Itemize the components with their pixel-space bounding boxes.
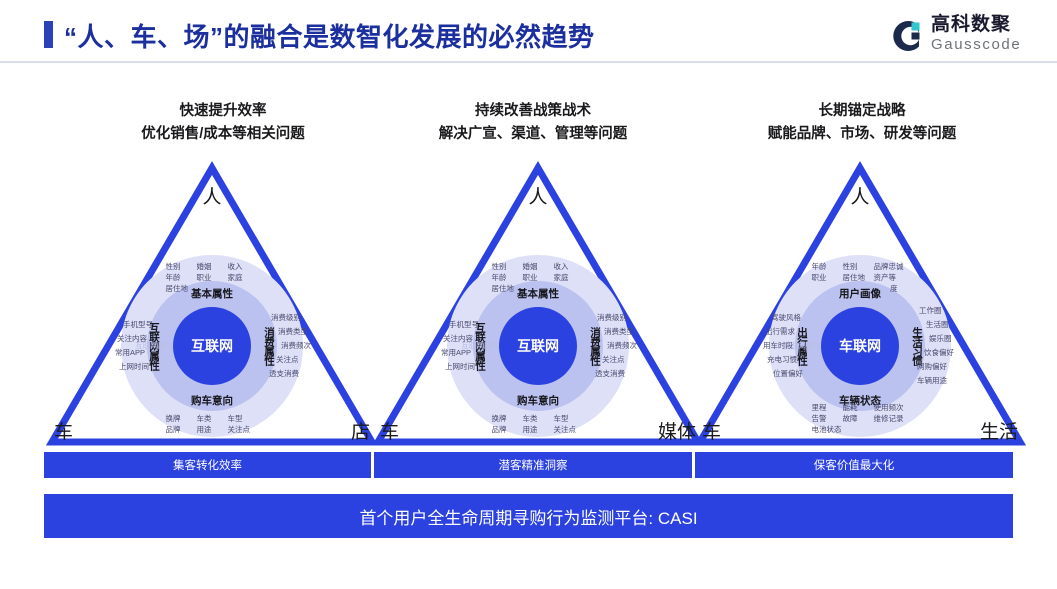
column-heading-2: 长期锚定战略 赋能品牌、市场、研发等问题 [697,100,1027,146]
column-heading-0: 快速提升效率 优化销售/成本等相关问题 [58,100,388,146]
stage-bar-1[interactable]: 潜客精准洞察 [374,452,692,478]
concentric-rings-1: 互联网 基本属性 购车意向 互联网属性 消费属性 互联网属性 性别婚姻收入 年龄… [447,255,629,437]
spoke-group-top-0: 性别婚姻收入 年龄职业家庭 居住地 [166,261,259,294]
header-divider [0,61,1057,63]
column-heading-0-line1: 快速提升效率 [58,100,388,123]
platform-footer-bar[interactable]: 首个用户全生命周期寻购行为监测平台: CASI [44,494,1013,538]
column-heading-2-line2: 赋能品牌、市场、研发等问题 [697,123,1027,146]
triangle-vertex-right-1: 媒体 [658,417,696,444]
triangle-vertex-right-0: 店 [351,417,370,444]
spoke-group-bottom-0: 换牌车类车型 品牌用途关注点 [166,413,259,435]
triangle-panel-0: 人 车 店 互联网 基本属性 购车意向 互联网属性 消费属性 互联网属性 性别婚… [44,160,380,450]
triangle-vertex-left-1: 车 [380,417,399,444]
brand-name-en: Gausscode [931,36,1021,54]
title-accent-bar [44,21,53,48]
triangle-panel-2: 人 车 生活 车联网 用户画像 车辆状态 出行属性 生活习惯 互联网属性 年龄性… [692,160,1028,450]
concentric-rings-2: 车联网 用户画像 车辆状态 出行属性 生活习惯 互联网属性 年龄性别品牌忠诚 职… [769,255,951,437]
ring-core-label-2: 车联网 [839,336,881,356]
spoke-group-bottom-1: 换牌车类车型 品牌用途关注点 [492,413,585,435]
triangle-vertex-right-2: 生活 [980,417,1018,444]
column-heading-1: 持续改善战策战术 解决广宣、渠道、管理等问题 [368,100,698,146]
concentric-rings-0: 互联网 基本属性 购车意向 互联网属性 消费属性 互联网属性 性别婚姻收入 年龄… [121,255,303,437]
brand-logo: 高科数聚 Gausscode [889,14,1039,58]
page-header: “人、车、场”的融合是数智化发展的必然趋势 高科数聚 Gausscode [0,0,1057,62]
gausscode-c-logo-icon [889,18,925,54]
column-heading-1-line2: 解决广宣、渠道、管理等问题 [368,123,698,146]
ring-core-1: 互联网 [499,307,577,385]
spoke-group-top-2: 年龄性别品牌忠诚 职业居住地资产等 度 [812,261,909,294]
spoke-group-right-1: 消费级别 消费类型 消费频次 关注点 透支消费 [595,311,661,381]
page-title: “人、车、场”的融合是数智化发展的必然趋势 [64,17,595,54]
stage-bar-2[interactable]: 保客价值最大化 [695,452,1013,478]
spoke-group-bottom-2: 里程能耗使用频次 告警故障维修记录 电池状态 [812,402,909,435]
triangle-vertex-left-2: 车 [702,417,721,444]
spoke-group-right-2: 工作圈 生活圈 娱乐圈 饮食偏好 网购偏好 车辆用途 [917,304,983,388]
column-heading-2-line1: 长期锚定战略 [697,100,1027,123]
triangle-vertex-top-1: 人 [528,182,547,209]
triangle-vertex-top-0: 人 [202,182,221,209]
ring-band-bottom-1: 购车意向 [517,393,559,408]
spoke-group-left-2: 驾驶风格 出行需求 用车时段 充电习惯 位置偏好 [737,311,803,381]
spoke-group-left-1: 手机型号 关注内容 常用APP 上网时间 [415,318,481,374]
ring-band-bottom-0: 购车意向 [191,393,233,408]
spoke-group-left-0: 手机型号 关注内容 常用APP 上网时间 [89,318,155,374]
triangle-vertex-top-2: 人 [850,182,869,209]
triangle-panel-1: 人 车 媒体 互联网 基本属性 购车意向 互联网属性 消费属性 互联网属性 性别… [370,160,706,450]
ring-core-label-0: 互联网 [191,336,233,356]
spoke-group-top-1: 性别婚姻收入 年龄职业家庭 居住地 [492,261,585,294]
spoke-group-right-0: 消费级别 消费类型 消费频次 关注点 透支消费 [269,311,335,381]
column-heading-0-line2: 优化销售/成本等相关问题 [58,123,388,146]
brand-logo-text: 高科数聚 Gausscode [931,14,1021,54]
ring-core-0: 互联网 [173,307,251,385]
ring-core-label-1: 互联网 [517,336,559,356]
column-heading-1-line1: 持续改善战策战术 [368,100,698,123]
triangle-vertex-left-0: 车 [54,417,73,444]
stage-bar-0[interactable]: 集客转化效率 [44,452,371,478]
ring-core-2: 车联网 [821,307,899,385]
brand-name-cn: 高科数聚 [931,14,1021,36]
